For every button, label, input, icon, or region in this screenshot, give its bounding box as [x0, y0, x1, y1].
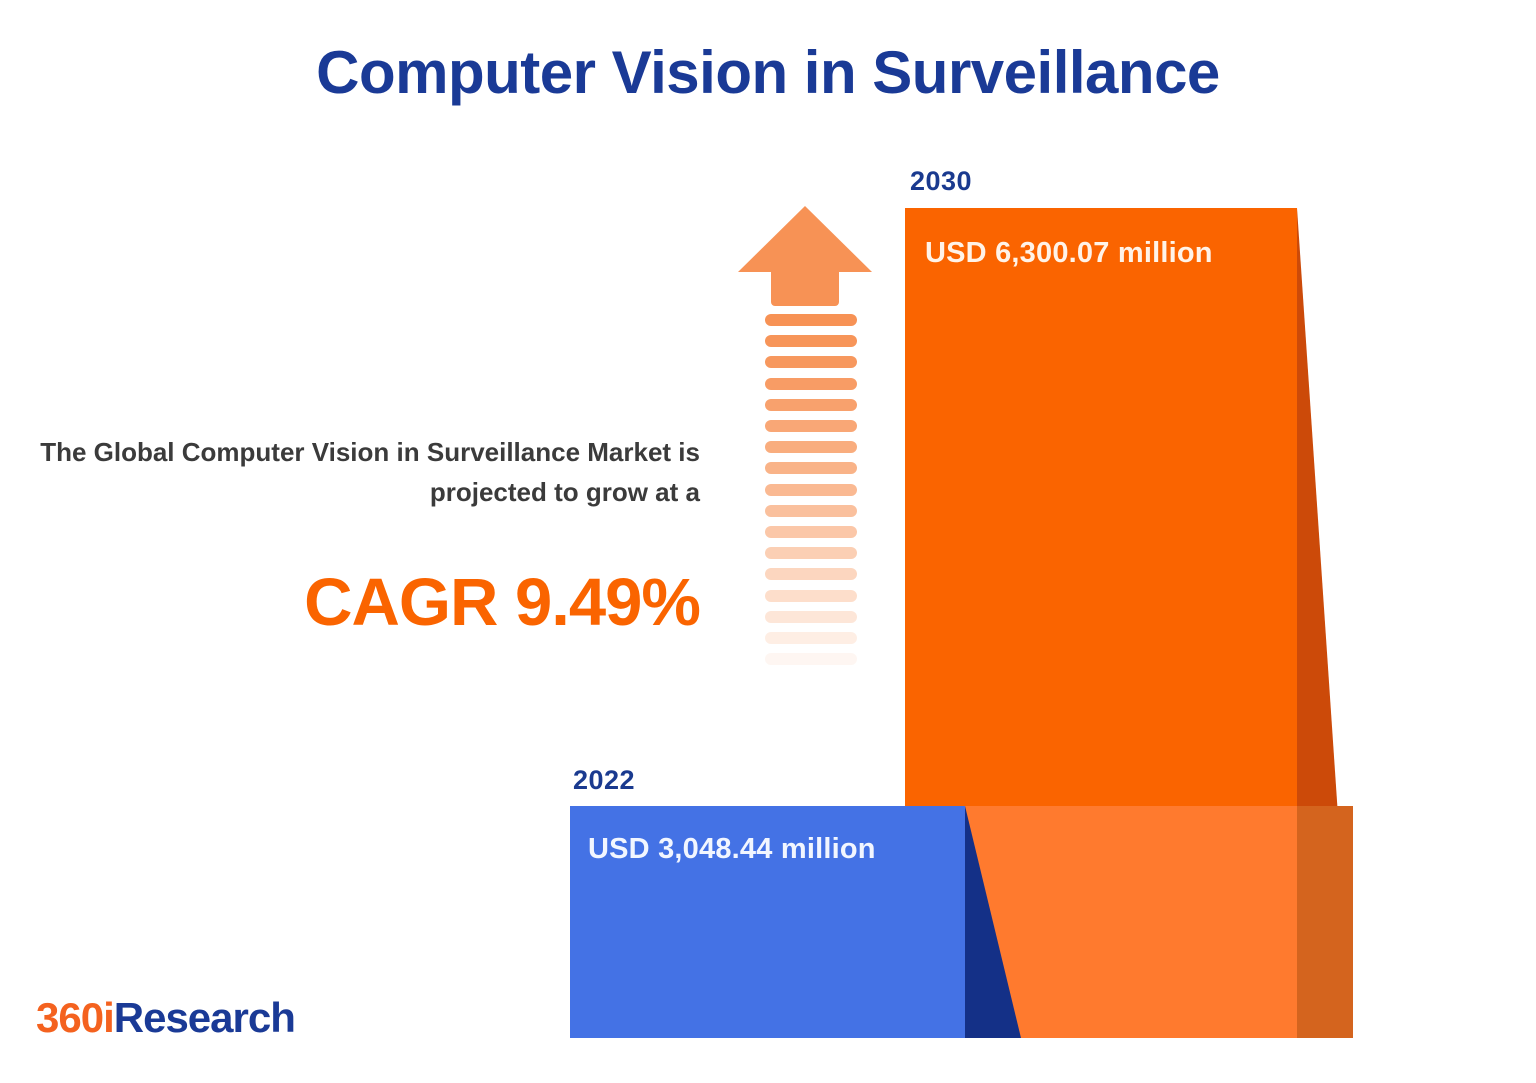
arrow-tail-segment — [765, 441, 857, 453]
logo-360i-text: 360i — [36, 994, 114, 1041]
bar-2030-side-face-lower — [1297, 806, 1353, 1038]
arrow-tail-segment — [765, 547, 857, 559]
page-title: Computer Vision in Surveillance — [0, 38, 1536, 107]
arrow-tail-segment — [765, 462, 857, 474]
arrow-tail-segment — [765, 526, 857, 538]
arrow-tail-segment — [765, 314, 857, 326]
infographic-canvas: Computer Vision in Surveillance The Glob… — [0, 0, 1536, 1083]
arrow-tail-segment — [765, 420, 857, 432]
value-label-2022: USD 3,048.44 million — [588, 833, 876, 866]
arrow-tail-segment — [765, 505, 857, 517]
arrow-tail-segment — [765, 611, 857, 623]
arrow-tail-segment — [765, 568, 857, 580]
growth-arrow-icon — [738, 206, 872, 756]
arrow-tail-segment — [765, 484, 857, 496]
arrow-head-icon — [738, 206, 872, 272]
logo-research-text: Research — [114, 994, 295, 1041]
year-label-2030: 2030 — [910, 166, 972, 197]
arrow-tail-segment — [765, 590, 857, 602]
arrow-tail-segment — [765, 399, 857, 411]
arrow-neck-icon — [771, 270, 839, 306]
arrow-tail-segment — [765, 335, 857, 347]
arrow-tail-segment — [765, 653, 857, 665]
narrative-text: The Global Computer Vision in Surveillan… — [28, 432, 700, 512]
arrow-tail-segment — [765, 632, 857, 644]
arrow-tail-segment — [765, 356, 857, 368]
value-label-2030: USD 6,300.07 million — [925, 237, 1213, 270]
arrow-tail-segment — [765, 378, 857, 390]
cagr-value: CAGR 9.49% — [28, 564, 700, 641]
brand-logo: 360iResearch — [36, 994, 295, 1042]
year-label-2022: 2022 — [573, 765, 635, 796]
